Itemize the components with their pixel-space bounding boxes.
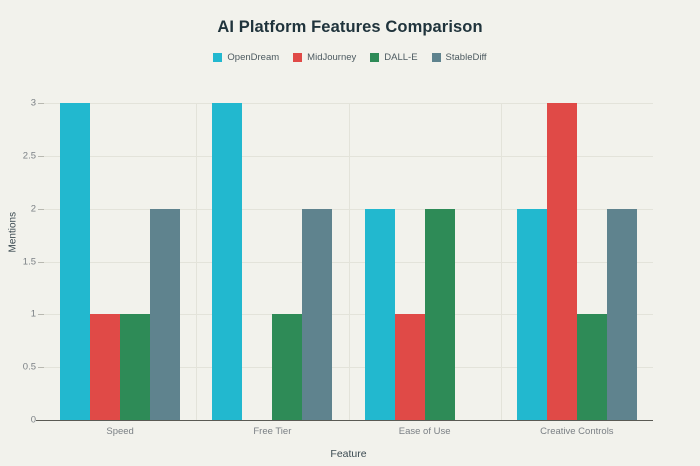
x-axis-title: Feature (44, 448, 653, 460)
bar-slot (302, 103, 332, 420)
x-axis-line (36, 420, 653, 421)
bar[interactable] (577, 314, 607, 420)
legend-swatch-icon (370, 53, 379, 62)
bar[interactable] (272, 314, 302, 420)
bar[interactable] (60, 103, 90, 420)
bar[interactable] (607, 209, 637, 420)
legend-item-stablediff[interactable]: StableDiff (432, 52, 487, 63)
bar-group-free-tier (196, 103, 348, 420)
bar-slot (212, 103, 242, 420)
bar[interactable] (302, 209, 332, 420)
bar[interactable] (90, 314, 120, 420)
bar-slot (120, 103, 150, 420)
bar[interactable] (517, 209, 547, 420)
x-tick-label: Ease of Use (349, 426, 501, 437)
bar-chart: AI Platform Features Comparison OpenDrea… (0, 0, 700, 466)
bar-slot (455, 103, 485, 420)
bar[interactable] (547, 103, 577, 420)
legend-swatch-icon (293, 53, 302, 62)
legend-swatch-icon (213, 53, 222, 62)
bar-slot (607, 103, 637, 420)
bar-slot (242, 103, 272, 420)
bar-group-ease-of-use (349, 103, 501, 420)
bar-slot (517, 103, 547, 420)
bar[interactable] (150, 209, 180, 420)
legend-swatch-icon (432, 53, 441, 62)
bar-slot (547, 103, 577, 420)
x-axis-tick-labels: SpeedFree TierEase of UseCreative Contro… (44, 426, 653, 437)
chart-legend: OpenDreamMidJourneyDALL-EStableDiff (0, 52, 700, 63)
bar-slot (365, 103, 395, 420)
bar[interactable] (365, 209, 395, 420)
x-tick-label: Creative Controls (501, 426, 653, 437)
legend-item-opendream[interactable]: OpenDream (213, 52, 279, 63)
bar[interactable] (212, 103, 242, 420)
legend-label: DALL-E (384, 52, 417, 63)
bar[interactable] (395, 314, 425, 420)
legend-item-midjourney[interactable]: MidJourney (293, 52, 356, 63)
y-axis-tick-marks (0, 103, 50, 420)
chart-title: AI Platform Features Comparison (0, 18, 700, 37)
bar[interactable] (425, 209, 455, 420)
bar-group-speed (44, 103, 196, 420)
bar-slot (425, 103, 455, 420)
bar-slot (90, 103, 120, 420)
legend-label: StableDiff (446, 52, 487, 63)
bar-groups (44, 103, 653, 420)
x-tick-label: Free Tier (196, 426, 348, 437)
bar-slot (60, 103, 90, 420)
bar[interactable] (120, 314, 150, 420)
bar-group-creative-controls (501, 103, 653, 420)
bar-slot (577, 103, 607, 420)
legend-label: OpenDream (227, 52, 279, 63)
legend-label: MidJourney (307, 52, 356, 63)
plot-area (44, 103, 653, 420)
legend-item-dall-e[interactable]: DALL-E (370, 52, 417, 63)
bar-slot (395, 103, 425, 420)
bar-slot (272, 103, 302, 420)
bar-slot (150, 103, 180, 420)
x-tick-label: Speed (44, 426, 196, 437)
